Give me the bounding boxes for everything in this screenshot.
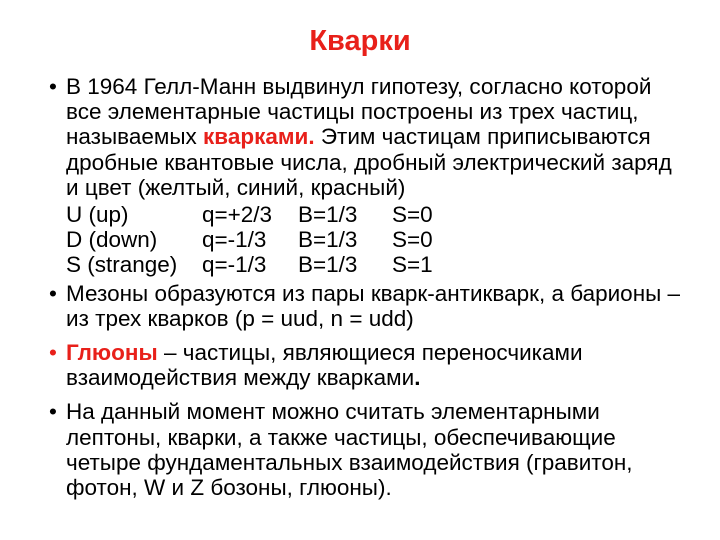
bullet-glyph-icon: • — [46, 281, 60, 306]
list-item[interactable]: • Мезоны образуются из пары кварк-антикв… — [40, 281, 688, 331]
list-item-text: Глюоны – частицы, являющиеся переносчика… — [66, 340, 688, 390]
quark-baryon-cell: B=1/3 — [298, 252, 392, 277]
quark-strangeness-cell: S=0 — [392, 227, 433, 252]
quark-name-cell: S (strange) — [66, 252, 202, 277]
quark-charge-cell: q=+2/3 — [202, 202, 298, 227]
quark-name-cell: D (down) — [66, 227, 202, 252]
list-item-text-segment-bold: . — [414, 365, 420, 390]
list-item-text: Мезоны образуются из пары кварк-антиквар… — [66, 281, 688, 331]
spacer — [40, 333, 688, 340]
quark-name-cell: U (up) — [66, 202, 202, 227]
list-item-text-segment-accent: Глюоны — [66, 340, 158, 365]
spacer — [40, 392, 688, 399]
table-row: S (strange)q=-1/3B=1/3S=1 — [66, 252, 688, 277]
list-item-gluons[interactable]: • Глюоны – частицы, являющиеся переносчи… — [40, 340, 688, 390]
quark-charge-cell: q=-1/3 — [202, 227, 298, 252]
table-row: D (down)q=-1/3B=1/3S=0 — [66, 227, 688, 252]
quark-baryon-cell: B=1/3 — [298, 227, 392, 252]
bullet-glyph-icon: • — [46, 74, 60, 99]
list-item-text: В 1964 Гелл-Манн выдвинул гипотезу, согл… — [66, 74, 688, 200]
page-title: Кварки — [0, 24, 720, 58]
quark-properties-table: U (up)q=+2/3B=1/3S=0 D (down)q=-1/3B=1/3… — [40, 202, 688, 278]
list-item-text-segment-accent: кварками. — [203, 124, 315, 149]
quark-baryon-cell: B=1/3 — [298, 202, 392, 227]
quark-strangeness-cell: S=0 — [392, 202, 433, 227]
table-row: U (up)q=+2/3B=1/3S=0 — [66, 202, 688, 227]
bullet-glyph-icon: • — [46, 399, 60, 424]
list-item[interactable]: • В 1964 Гелл-Манн выдвинул гипотезу, со… — [40, 74, 688, 200]
bullet-glyph-icon: • — [46, 340, 60, 365]
quark-charge-cell: q=-1/3 — [202, 252, 298, 277]
list-item[interactable]: • На данный момент можно считать элемент… — [40, 399, 688, 500]
slide-canvas: Кварки • В 1964 Гелл-Манн выдвинул гипот… — [0, 0, 720, 540]
slide-body: • В 1964 Гелл-Манн выдвинул гипотезу, со… — [40, 74, 688, 502]
quark-strangeness-cell: S=1 — [392, 252, 433, 277]
list-item-text: На данный момент можно считать элементар… — [66, 399, 688, 500]
